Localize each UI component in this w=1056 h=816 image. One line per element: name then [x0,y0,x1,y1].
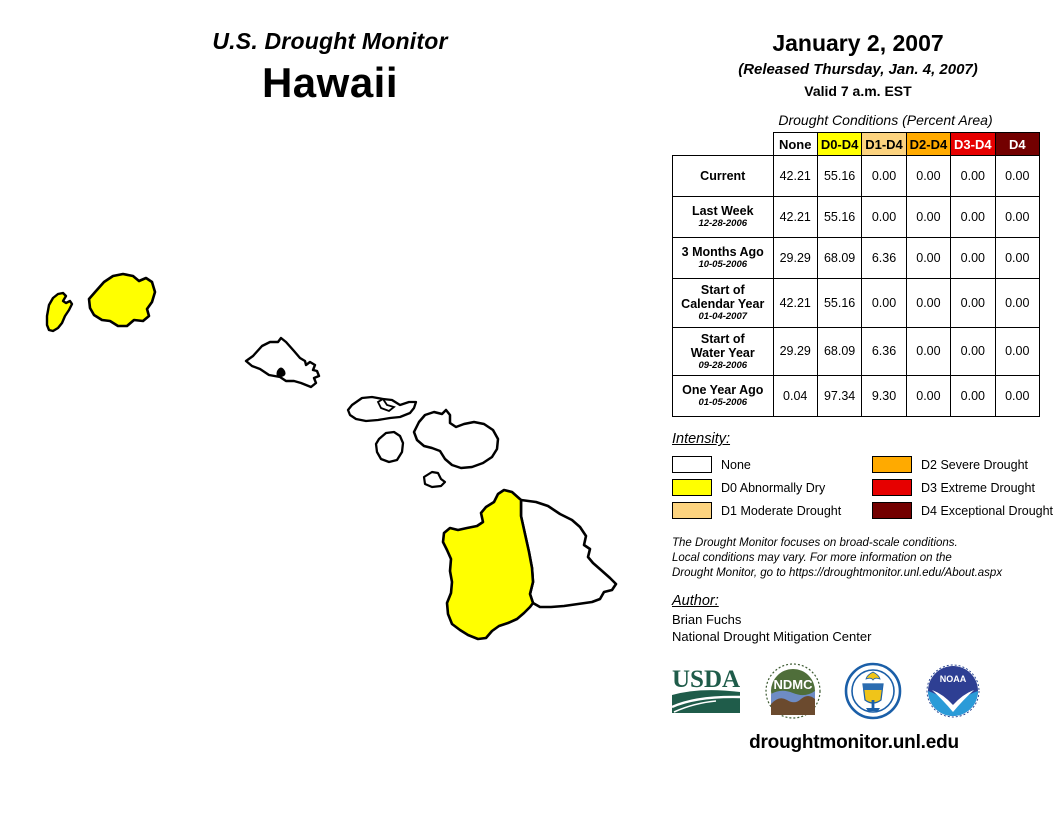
author-block: Author: Brian Fuchs National Drought Mit… [672,593,1056,646]
table-cell: 0.00 [951,197,995,238]
state-title: Hawaii [0,59,660,107]
table-cell: 0.00 [906,156,950,197]
date-block: January 2, 2007 (Released Thursday, Jan.… [660,0,1056,99]
table-cell: 0.00 [995,327,1039,376]
table-cell: 0.00 [995,376,1039,417]
table-cell: 68.09 [817,238,861,279]
release-date: (Released Thursday, Jan. 4, 2007) [660,61,1056,78]
table-row: One Year Ago01-05-20060.0497.349.300.000… [673,376,1040,417]
table-col-header-d4: D4 [995,133,1039,156]
disclaimer-text: The Drought Monitor focuses on broad-sca… [672,536,1052,580]
row-label-date: 01-04-2007 [675,312,771,323]
table-cell: 6.36 [862,238,906,279]
table-cell: 0.00 [906,327,950,376]
row-label-text: Current [700,169,745,183]
table-header-row: NoneD0-D4D1-D4D2-D4D3-D4D4 [673,133,1040,156]
row-label-date: 12-28-2006 [675,219,771,230]
table-cell: 0.04 [773,376,817,417]
table-row: Start ofWater Year09-28-200629.2968.096.… [673,327,1040,376]
title-block: U.S. Drought Monitor Hawaii [0,28,660,107]
legend-label: D0 Abnormally Dry [721,481,825,495]
row-label: One Year Ago01-05-2006 [673,376,774,417]
table-cell: 55.16 [817,156,861,197]
row-label: Start ofCalendar Year01-04-2007 [673,279,774,328]
legend-item: None [672,456,872,473]
table-cell: 97.34 [817,376,861,417]
table-col-header-none: None [773,133,817,156]
right-panel: January 2, 2007 (Released Thursday, Jan.… [660,0,1056,816]
drought-conditions-table: NoneD0-D4D1-D4D2-D4D3-D4D4 Current42.215… [672,132,1040,417]
row-label-text: One Year Ago [682,383,763,397]
island-niihau [47,293,72,331]
row-label-text: 3 Months Ago [682,245,764,259]
table-cell: 0.00 [906,279,950,328]
report-date: January 2, 2007 [660,30,1056,57]
table-cell: 0.00 [951,156,995,197]
valid-time: Valid 7 a.m. EST [660,83,1056,99]
table-cell: 68.09 [817,327,861,376]
legend-swatch [672,479,712,496]
table-cell: 29.29 [773,238,817,279]
table-cell: 55.16 [817,197,861,238]
ndmc-logo: NDMC [764,662,822,720]
island-oahu [246,338,319,387]
table-cell: 0.00 [862,197,906,238]
table-cell: 0.00 [951,279,995,328]
usda-logo: USDA [670,665,742,717]
legend-label: D4 Exceptional Drought [921,504,1053,518]
legend-label: None [721,458,751,472]
disclaimer-line-3: Drought Monitor, go to https://droughtmo… [672,566,1052,581]
row-label: Current [673,156,774,197]
noaa-logo: NOAA [924,662,982,720]
site-url[interactable]: droughtmonitor.unl.edu [660,732,1056,754]
table-corner-cell [673,133,774,156]
table-row: 3 Months Ago10-05-200629.2968.096.360.00… [673,238,1040,279]
legend-item: D0 Abnormally Dry [672,479,872,496]
table-cell: 6.36 [862,327,906,376]
svg-text:USDA: USDA [672,666,740,693]
row-label: 3 Months Ago10-05-2006 [673,238,774,279]
table-cell: 0.00 [995,238,1039,279]
table-row: Last Week12-28-200642.2155.160.000.000.0… [673,197,1040,238]
row-label: Last Week12-28-2006 [673,197,774,238]
table-col-header-d0-d4: D0-D4 [817,133,861,156]
table-cell: 0.00 [862,156,906,197]
row-label-text: Last Week [692,204,754,218]
table-col-header-d3-d4: D3-D4 [951,133,995,156]
hawaii-drought-map [0,130,660,710]
legend-item: D2 Severe Drought [872,456,1056,473]
svg-text:NDMC: NDMC [774,677,814,692]
legend-swatch [872,456,912,473]
row-label-date: 10-05-2006 [675,260,771,271]
island-kahoolawe [424,472,445,487]
table-cell: 9.30 [862,376,906,417]
author-heading: Author: [672,593,1056,609]
usdc-logo [844,662,902,720]
table-cell: 0.00 [951,327,995,376]
table-cell: 0.00 [906,197,950,238]
disclaimer-line-2: Local conditions may vary. For more info… [672,551,1052,566]
table-cell: 0.00 [906,376,950,417]
row-label: Start ofWater Year09-28-2006 [673,327,774,376]
row-label-text: Start ofCalendar Year [681,283,764,311]
table-cell: 0.00 [862,279,906,328]
legend-item: D4 Exceptional Drought [872,502,1056,519]
disclaimer-line-1: The Drought Monitor focuses on broad-sca… [672,536,1052,551]
table-row: Start ofCalendar Year01-04-200742.2155.1… [673,279,1040,328]
table-cell: 0.00 [906,238,950,279]
program-title: U.S. Drought Monitor [0,28,660,55]
table-cell: 0.00 [995,156,1039,197]
table-cell: 42.21 [773,197,817,238]
author-affiliation: National Drought Mitigation Center [672,629,1056,646]
legend-swatch [872,502,912,519]
legend-item: D1 Moderate Drought [672,502,872,519]
legend-swatch [872,479,912,496]
legend-item: D3 Extreme Drought [872,479,1056,496]
table-col-header-d1-d4: D1-D4 [862,133,906,156]
legend-swatch [672,456,712,473]
intensity-legend: Intensity: NoneD2 Severe DroughtD0 Abnor… [672,431,1052,522]
table-cell: 0.00 [995,197,1039,238]
island-hawaii-west-d0 [443,490,533,639]
table-cell: 42.21 [773,156,817,197]
row-label-date: 01-05-2006 [675,398,771,409]
author-name: Brian Fuchs [672,612,1056,629]
table-cell: 0.00 [951,376,995,417]
table-cell: 0.00 [951,238,995,279]
legend-label: D3 Extreme Drought [921,481,1035,495]
legend-label: D1 Moderate Drought [721,504,841,518]
intensity-heading: Intensity: [672,431,1052,447]
logo-row: USDA NDMC NOAA [670,662,1056,720]
legend-grid: NoneD2 Severe DroughtD0 Abnormally DryD3… [672,453,1052,522]
island-lanai [376,432,403,462]
svg-text:NOAA: NOAA [940,674,967,684]
island-maui [414,410,498,468]
table-cell: 29.29 [773,327,817,376]
legend-label: D2 Severe Drought [921,458,1028,472]
table-cell: 42.21 [773,279,817,328]
table-cell: 0.00 [995,279,1039,328]
row-label-date: 09-28-2006 [675,361,771,372]
island-kauai [89,274,155,326]
table-body: Current42.2155.160.000.000.000.00Last We… [673,156,1040,417]
legend-swatch [672,502,712,519]
table-cell: 55.16 [817,279,861,328]
table-col-header-d2-d4: D2-D4 [906,133,950,156]
island-hawaii-east-none [521,500,616,607]
table-caption: Drought Conditions (Percent Area) [660,112,1056,128]
row-label-text: Start ofWater Year [691,332,755,360]
table-row: Current42.2155.160.000.000.000.00 [673,156,1040,197]
